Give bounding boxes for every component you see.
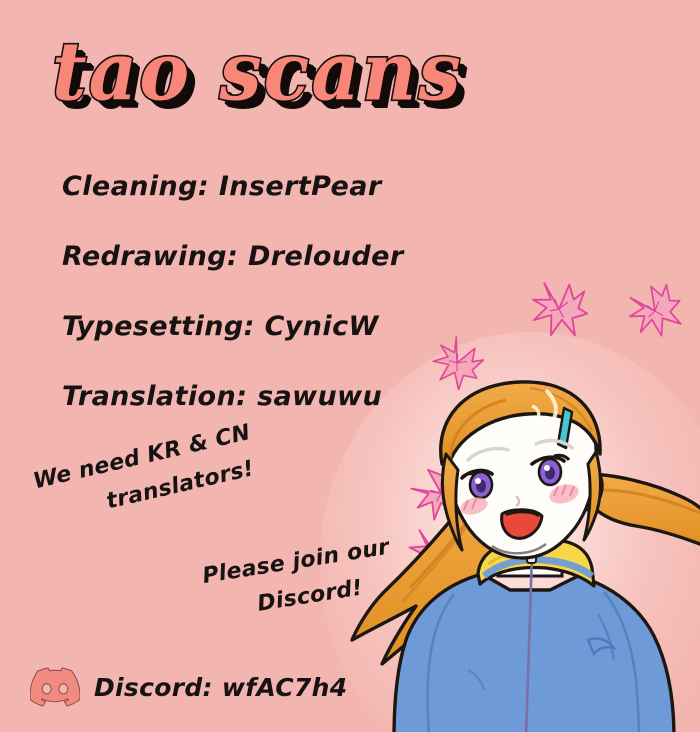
- title-text: tao scans: [52, 22, 676, 121]
- anime-girl-illustration: [350, 378, 700, 732]
- flower-icon: [528, 278, 590, 340]
- credit-row-cleaning: Cleaning: InsertPear: [62, 152, 482, 222]
- discord-handle-label: Discord: wfAC7h4: [94, 673, 347, 702]
- discord-logo-icon: [30, 666, 80, 708]
- credit-row-redrawing: Redrawing: Drelouder: [62, 222, 482, 292]
- credit-row-typesetting: Typesetting: CynicW: [62, 292, 482, 362]
- scanlation-group-title: tao scans: [52, 22, 652, 112]
- flower-icon: [626, 282, 684, 340]
- discord-footer[interactable]: Discord: wfAC7h4: [30, 666, 347, 708]
- credits-page: tao scans Cleaning: InsertPear Redrawing…: [0, 0, 700, 732]
